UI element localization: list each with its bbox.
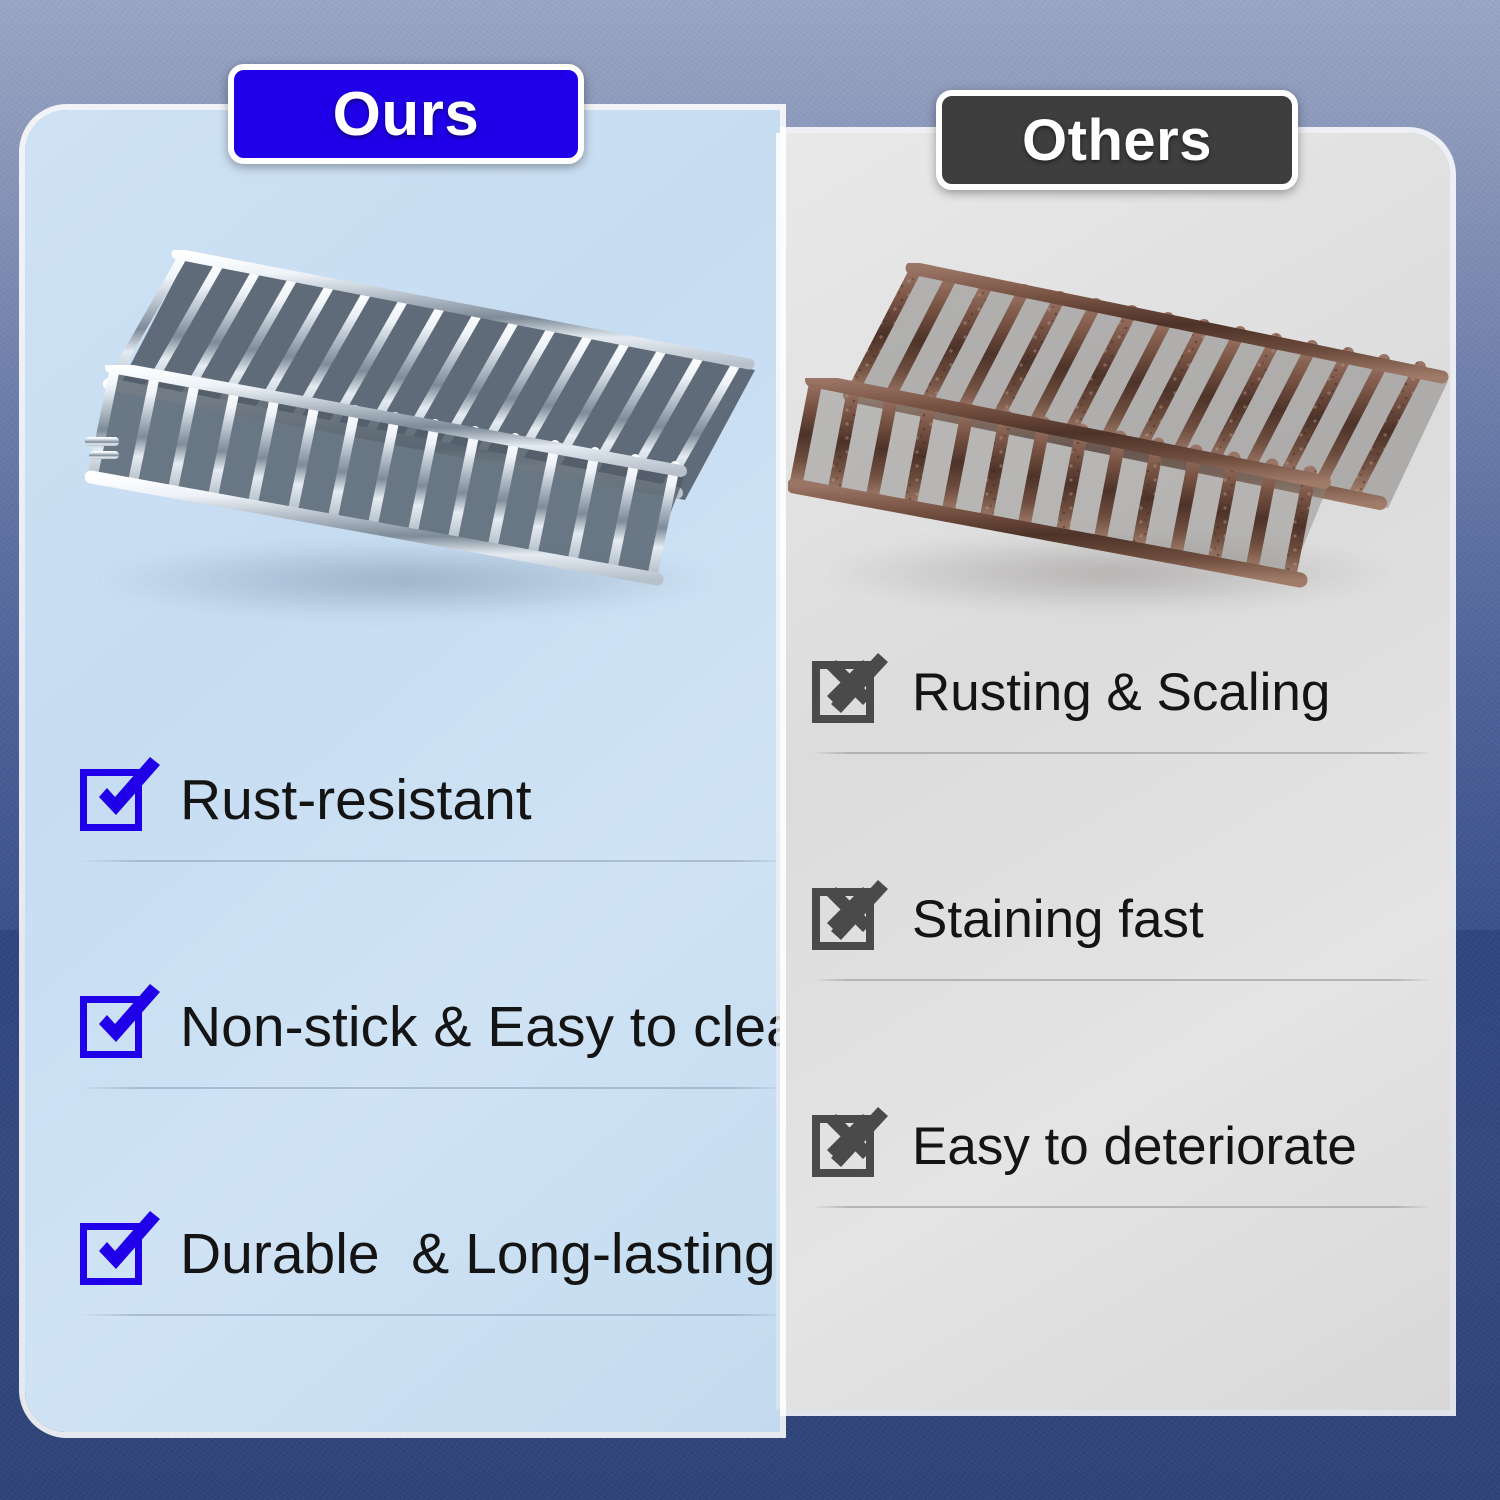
cross-box-icon: [812, 882, 886, 956]
steel-grate-front-svg: [85, 365, 705, 655]
others-feature-label-1: Rusting & Scaling: [912, 662, 1330, 723]
others-panel: Rusting & Scaling Staining fast: [778, 133, 1450, 1410]
ours-feature-row-1: Rust-resistant: [80, 740, 780, 860]
cross-mark-icon: [814, 878, 890, 954]
check-mark-icon: [86, 757, 164, 835]
others-divider-3: [812, 1206, 1432, 1208]
others-badge: Others: [936, 90, 1298, 190]
cross-mark-icon: [814, 651, 890, 727]
ours-feature-list: Rust-resistant Non-stick & Easy to clean: [80, 740, 780, 1316]
others-feature-row-2: Staining fast: [812, 859, 1432, 979]
check-mark-icon: [86, 1211, 164, 1289]
others-feature-row-3: Easy to deteriorate: [812, 1086, 1432, 1206]
others-product-image: [778, 133, 1450, 633]
steel-grate-front: [85, 365, 705, 655]
ours-feature-label-2: Non-stick & Easy to clean: [180, 994, 780, 1060]
check-mark-icon: [86, 984, 164, 1062]
ours-badge-label: Ours: [333, 79, 480, 150]
ours-feature-row-2: Non-stick & Easy to clean: [80, 967, 780, 1087]
comparison-infographic: Rust-resistant Non-stick & Easy to clean: [0, 0, 1500, 1500]
cross-mark-icon: [814, 1105, 890, 1181]
rust-grate-front: [788, 378, 1348, 648]
rust-grate-front-svg: [788, 378, 1348, 648]
ours-badge: Ours: [228, 64, 584, 164]
others-badge-label: Others: [1022, 107, 1212, 174]
others-feature-list: Rusting & Scaling Staining fast: [812, 632, 1432, 1208]
check-box-icon: [80, 990, 154, 1064]
others-feature-label-2: Staining fast: [912, 889, 1204, 950]
ours-product-image: [25, 110, 780, 630]
cross-box-icon: [812, 1109, 886, 1183]
panel-divider: [776, 133, 780, 1410]
ours-divider-3: [80, 1314, 780, 1316]
check-box-icon: [80, 763, 154, 837]
ours-feature-row-3: Durable & Long-lasting: [80, 1194, 780, 1314]
cross-box-icon: [812, 655, 886, 729]
ours-panel: Rust-resistant Non-stick & Easy to clean: [25, 110, 780, 1432]
others-feature-label-3: Easy to deteriorate: [912, 1116, 1357, 1177]
others-feature-row-1: Rusting & Scaling: [812, 632, 1432, 752]
check-box-icon: [80, 1217, 154, 1291]
ours-feature-label-1: Rust-resistant: [180, 767, 532, 833]
ours-feature-label-3: Durable & Long-lasting: [180, 1221, 776, 1287]
